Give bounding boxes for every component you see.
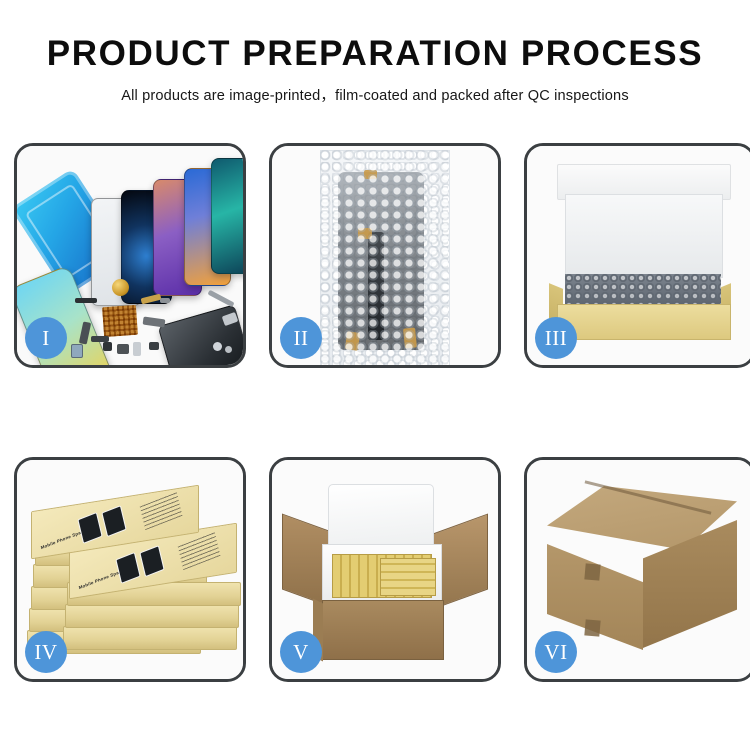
tweezers-icon xyxy=(207,290,234,308)
step-badge-2: II xyxy=(280,317,322,359)
spare-part-icon xyxy=(133,342,141,356)
tape-strip-icon xyxy=(364,170,377,179)
stacked-box xyxy=(65,604,239,628)
process-step-panel-6[interactable]: VI xyxy=(524,457,750,682)
camera-lens-icon xyxy=(112,279,129,296)
screw-icon xyxy=(225,346,232,353)
screw-icon xyxy=(213,342,222,351)
flex-cable-icon xyxy=(368,232,384,340)
spare-part-icon xyxy=(103,342,112,351)
page-header: PRODUCT PREPARATION PROCESS All products… xyxy=(0,0,750,105)
spare-part-icon xyxy=(149,342,159,350)
step-badge-6: VI xyxy=(535,631,577,673)
phone-teal-display-icon xyxy=(211,158,246,274)
bubble-foam-fill-icon xyxy=(565,274,721,306)
step-badge-3: III xyxy=(535,317,577,359)
stacked-box xyxy=(63,626,237,650)
step-badge-1: I xyxy=(25,317,67,359)
process-step-grid: I II III xyxy=(14,143,736,682)
step-badge-5: V xyxy=(280,631,322,673)
spare-part-icon xyxy=(75,298,97,303)
spare-part-icon xyxy=(71,344,83,358)
spare-part-icon xyxy=(160,298,170,303)
page-subtitle: All products are image-printed，film-coat… xyxy=(0,84,750,105)
packed-boxes-icon xyxy=(380,558,436,596)
box-lid-inner-icon xyxy=(565,194,723,278)
carton-tape-icon xyxy=(584,563,600,580)
tape-strip-icon xyxy=(345,331,360,351)
process-step-panel-2[interactable]: II xyxy=(269,143,501,368)
chip-array-icon xyxy=(102,305,138,337)
box-front-panel-icon xyxy=(557,304,731,340)
spare-part-icon xyxy=(143,317,166,328)
carton-front-panel-icon xyxy=(322,600,444,660)
tape-strip-icon xyxy=(358,228,372,239)
spare-part-icon xyxy=(117,344,129,354)
process-step-panel-4[interactable]: Mobile Phone Spare Parts Mobile Phone Sp… xyxy=(14,457,246,682)
step-badge-4: IV xyxy=(25,631,67,673)
process-step-panel-5[interactable]: V xyxy=(269,457,501,682)
process-step-panel-3[interactable]: III xyxy=(524,143,750,368)
tape-strip-icon xyxy=(403,327,417,348)
process-step-panel-1[interactable]: I xyxy=(14,143,246,368)
carton-tape-icon xyxy=(584,619,600,636)
page-title: PRODUCT PREPARATION PROCESS xyxy=(0,36,750,73)
